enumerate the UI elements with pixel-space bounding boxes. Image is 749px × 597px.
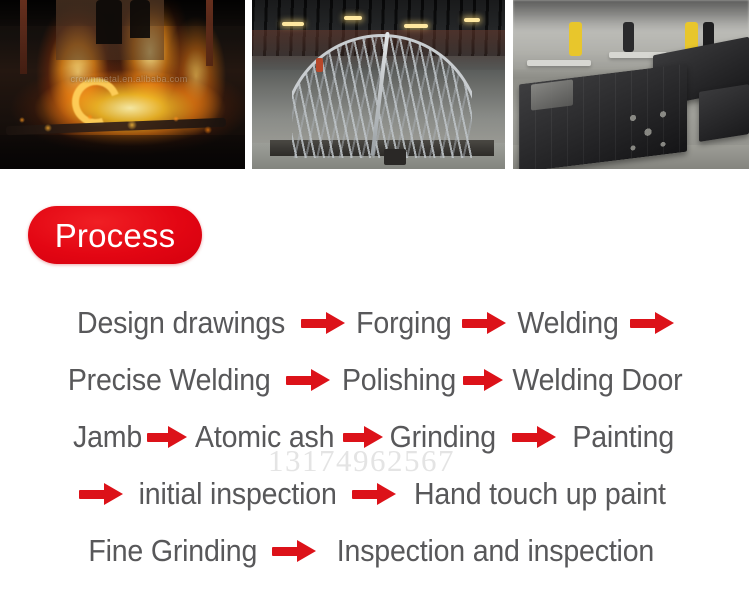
process-step-label: Atomic ash: [195, 421, 334, 452]
process-step-label: Inspection and inspection: [337, 535, 654, 566]
photo-divider-2: [505, 0, 513, 169]
process-step-line: Precise WeldingPolishingWelding Door: [0, 351, 749, 408]
forging-fire-photo: crownmetal.en.alibaba.com: [0, 0, 245, 169]
process-step-label: Hand touch up paint: [414, 478, 666, 509]
arrow-head: [537, 426, 556, 448]
arrow-head: [311, 369, 330, 391]
process-step-label: Precise Welding: [68, 364, 271, 395]
photo-c-door-panel: [699, 84, 749, 142]
arrow-head: [487, 312, 506, 334]
right-arrow-icon: [147, 426, 187, 448]
process-step-label: Forging: [356, 307, 451, 338]
right-arrow-icon: [630, 312, 674, 334]
right-arrow-icon: [352, 483, 396, 505]
process-step-label: Jamb: [73, 421, 142, 452]
right-arrow-icon: [343, 426, 383, 448]
photo-a-worker-silhouette: [96, 0, 122, 44]
process-steps-list: Design drawingsForgingWeldingPrecise Wel…: [0, 294, 749, 579]
right-arrow-icon: [463, 369, 503, 391]
photo-b-lamp: [282, 22, 304, 26]
arrow-shaft: [352, 490, 378, 499]
process-step-label: Painting: [573, 421, 675, 452]
photo-a-floor: [0, 135, 245, 169]
arrow-shaft: [462, 319, 488, 328]
black-doors-photo: [513, 0, 749, 169]
arrow-shaft: [79, 490, 105, 499]
arrow-head: [377, 483, 396, 505]
arrow-head: [168, 426, 187, 448]
right-arrow-icon: [512, 426, 556, 448]
process-step-label: Grinding: [389, 421, 495, 452]
process-step-label: Welding: [518, 307, 619, 338]
process-step-line: Fine GrindingInspection and inspection: [0, 522, 749, 579]
right-arrow-icon: [272, 540, 316, 562]
photo-b-lamp: [344, 16, 362, 20]
arrow-head: [655, 312, 674, 334]
photo-a-worker-silhouette-2: [130, 0, 150, 38]
process-step-label: Polishing: [342, 364, 456, 395]
arrow-head: [326, 312, 345, 334]
arrow-head: [297, 540, 316, 562]
process-step-line: initial inspectionHand touch up paint: [0, 465, 749, 522]
photo-a-post-left: [20, 0, 27, 74]
photo-a-watermark: crownmetal.en.alibaba.com: [44, 74, 214, 84]
photo-a-post-right: [206, 0, 213, 66]
photo-c-scrollwork: [621, 103, 677, 158]
photo-c-worker-yellow: [569, 22, 582, 56]
arrow-shaft: [286, 376, 312, 385]
photo-strip: crownmetal.en.alibaba.com: [0, 0, 749, 169]
right-arrow-icon: [301, 312, 345, 334]
photo-c-worker-dark: [623, 22, 634, 52]
arrow-head: [104, 483, 123, 505]
right-arrow-icon: [462, 312, 506, 334]
photo-c-work-table: [527, 60, 591, 66]
photo-divider-1: [245, 0, 252, 169]
photo-b-worker: [316, 58, 323, 72]
process-step-line: Design drawingsForgingWelding: [0, 294, 749, 351]
arrow-shaft: [301, 319, 327, 328]
arrow-head: [484, 369, 503, 391]
photo-b-lamp: [464, 18, 480, 22]
arrow-shaft: [630, 319, 656, 328]
process-step-label: Welding Door: [513, 364, 683, 395]
process-content: Process 13174962567 Design drawingsForgi…: [0, 169, 749, 597]
photo-b-cart: [384, 149, 406, 165]
arrow-shaft: [272, 547, 298, 556]
process-badge: Process: [28, 206, 202, 264]
process-step-label: initial inspection: [139, 478, 337, 509]
process-step-line: JambAtomic ashGrindingPainting: [0, 408, 749, 465]
process-step-label: Fine Grinding: [89, 535, 258, 566]
process-badge-label: Process: [55, 219, 176, 252]
arrow-shaft: [512, 433, 538, 442]
steel-arch-frame-photo: [252, 0, 505, 169]
photo-c-door-window-panel: [531, 79, 573, 110]
process-step-label: Design drawings: [77, 307, 285, 338]
right-arrow-icon: [286, 369, 330, 391]
right-arrow-icon: [79, 483, 123, 505]
arrow-head: [364, 426, 383, 448]
